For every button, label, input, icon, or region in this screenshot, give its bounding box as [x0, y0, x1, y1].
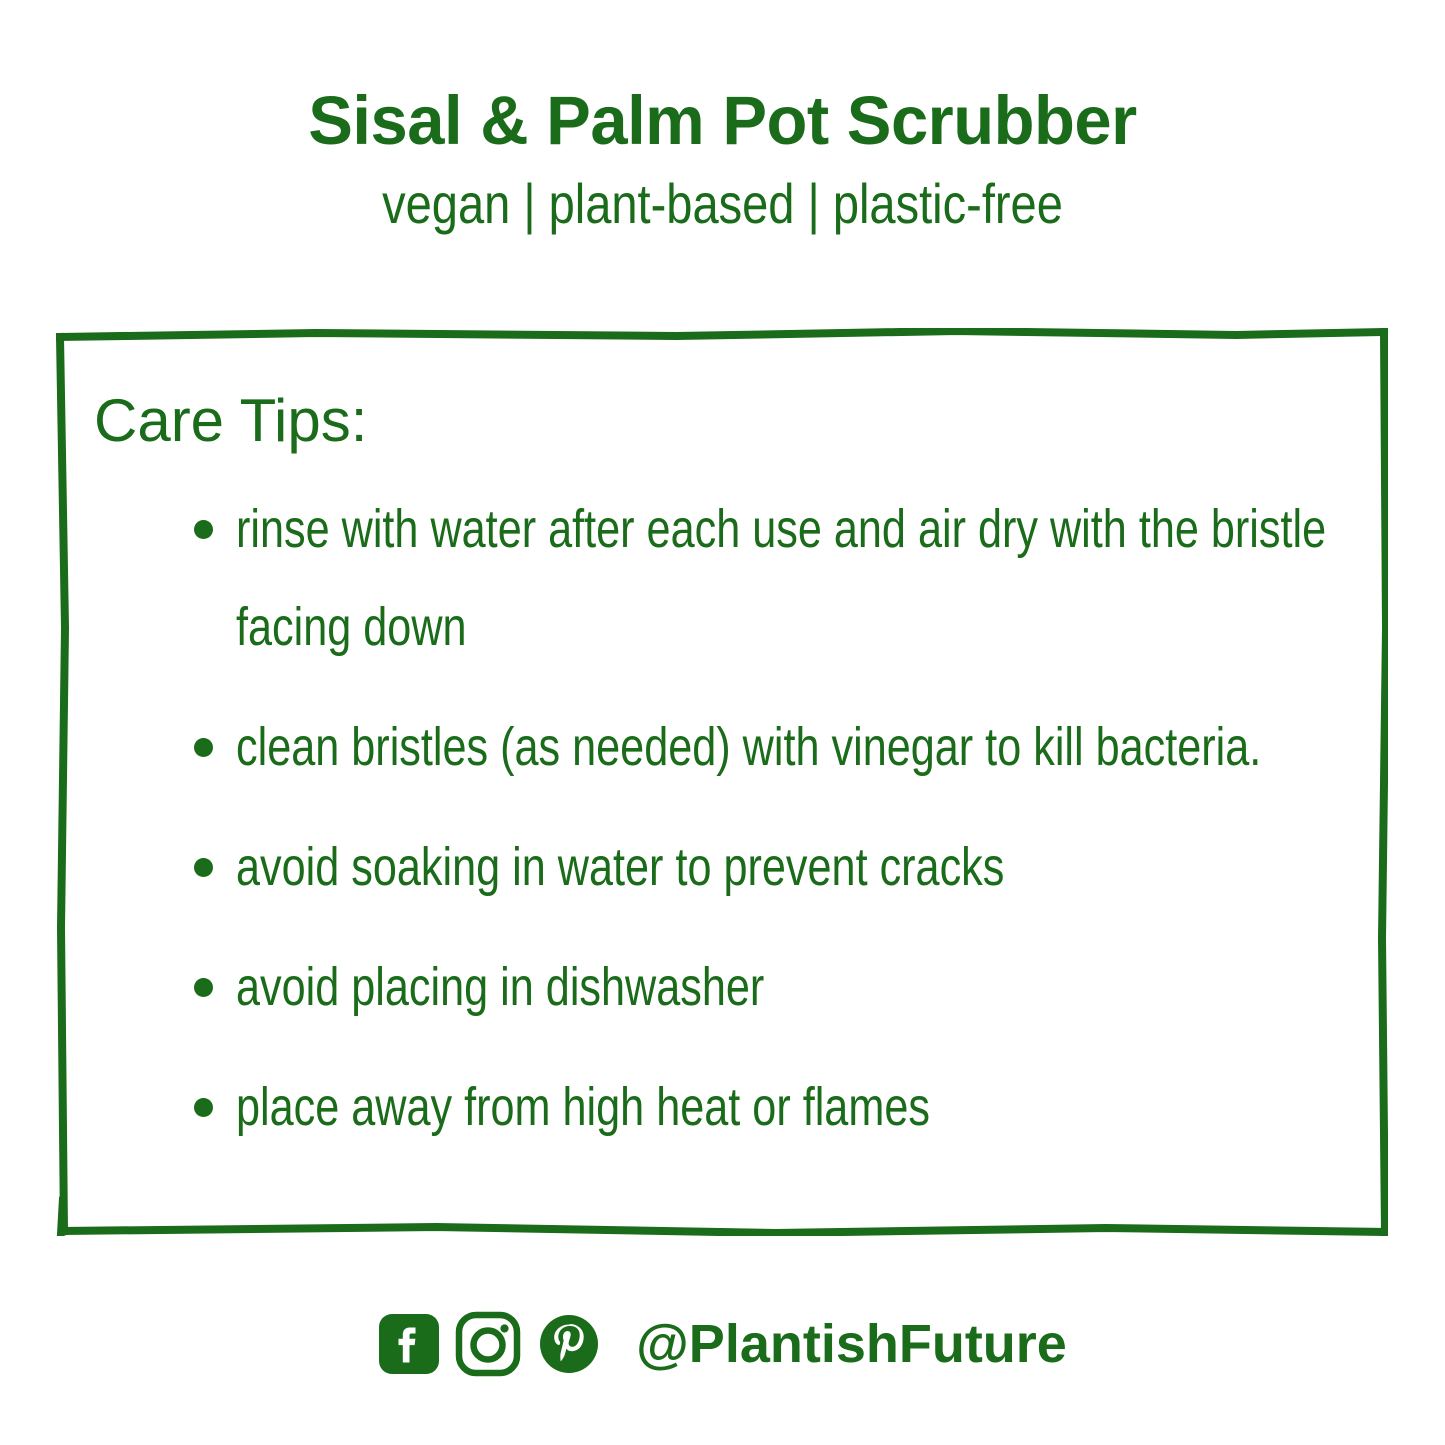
bullet-icon	[194, 858, 213, 877]
list-item: avoid soaking in water to prevent cracks	[94, 818, 1384, 916]
list-item: clean bristles (as needed) with vinegar …	[94, 698, 1384, 796]
footer-social-bar: @PlantishFuture	[0, 1310, 1445, 1378]
list-item: rinse with water after each use and air …	[94, 480, 1384, 676]
list-item: avoid placing in dishwasher	[94, 938, 1384, 1036]
care-tips-heading: Care Tips:	[94, 388, 367, 454]
header: Sisal & Palm Pot Scrubber vegan | plant-…	[0, 78, 1445, 238]
bullet-icon	[194, 1098, 213, 1117]
bullet-icon	[194, 520, 213, 539]
page-title: Sisal & Palm Pot Scrubber	[22, 78, 1424, 164]
page-subtitle: vegan | plant-based | plastic-free	[116, 170, 1330, 238]
product-care-card: Sisal & Palm Pot Scrubber vegan | plant-…	[0, 0, 1445, 1445]
list-item-label: clean bristles (as needed) with vinegar …	[236, 698, 1420, 796]
list-item-label: place away from high heat or flames	[236, 1058, 1420, 1156]
instagram-icon[interactable]	[454, 1310, 522, 1378]
list-item-label: avoid placing in dishwasher	[236, 938, 1420, 1036]
bullet-icon	[194, 978, 213, 997]
facebook-icon[interactable]	[378, 1313, 440, 1375]
bullet-icon	[194, 738, 213, 757]
list-item: place away from high heat or flames	[94, 1058, 1384, 1156]
care-box-content: Care Tips: rinse with water after each u…	[56, 328, 1388, 1236]
pinterest-icon[interactable]	[536, 1311, 602, 1377]
care-tips-list: rinse with water after each use and air …	[94, 480, 1384, 1178]
list-item-label: avoid soaking in water to prevent cracks	[236, 818, 1420, 916]
care-tips-box: Care Tips: rinse with water after each u…	[56, 328, 1388, 1236]
list-item-label: rinse with water after each use and air …	[236, 480, 1420, 676]
social-handle[interactable]: @PlantishFuture	[636, 1313, 1067, 1375]
